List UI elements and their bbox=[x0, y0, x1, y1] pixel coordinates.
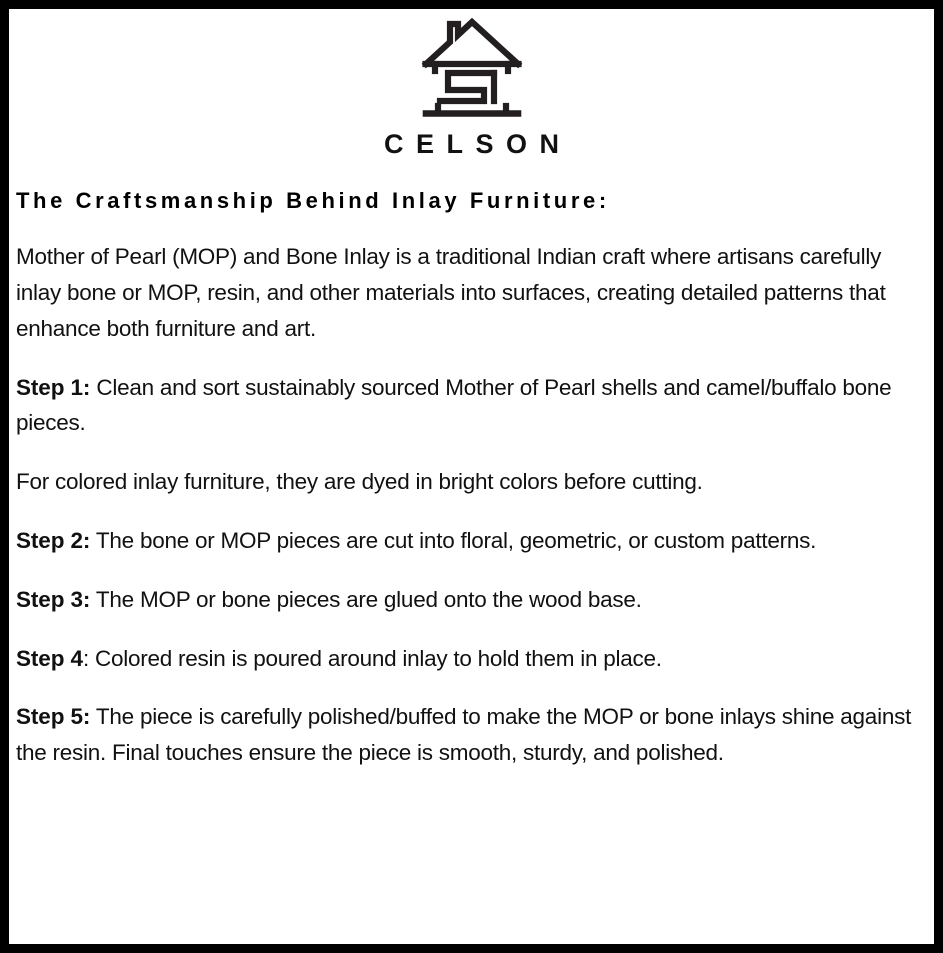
step-4-label: Step 4 bbox=[16, 646, 83, 671]
step-2-label: Step 2: bbox=[16, 528, 90, 553]
paragraph-step-4: Step 4: Colored resin is poured around i… bbox=[16, 641, 922, 677]
step-5-text: The piece is carefully polished/buffed t… bbox=[16, 704, 911, 765]
paragraph-step-3: Step 3: The MOP or bone pieces are glued… bbox=[16, 582, 922, 618]
step-3-label: Step 3: bbox=[16, 587, 90, 612]
poster-content: CELSON The Craftsmanship Behind Inlay Fu… bbox=[9, 9, 934, 944]
step-5-label: Step 5: bbox=[16, 704, 90, 729]
paragraph-step-1: Step 1: Clean and sort sustainably sourc… bbox=[16, 370, 922, 442]
step-1-text: Clean and sort sustainably sourced Mothe… bbox=[16, 375, 891, 436]
page-title: The Craftsmanship Behind Inlay Furniture… bbox=[16, 189, 934, 213]
paragraph-intro: Mother of Pearl (MOP) and Bone Inlay is … bbox=[16, 239, 922, 346]
paragraph-note: For colored inlay furniture, they are dy… bbox=[16, 464, 922, 500]
house-monogram-logo-icon bbox=[418, 14, 526, 120]
poster-frame: CELSON The Craftsmanship Behind Inlay Fu… bbox=[0, 0, 943, 953]
paragraph-step-5: Step 5: The piece is carefully polished/… bbox=[16, 699, 922, 771]
brand-header: CELSON bbox=[9, 9, 934, 158]
step-4-text: : Colored resin is poured around inlay t… bbox=[83, 646, 662, 671]
article-body: Mother of Pearl (MOP) and Bone Inlay is … bbox=[9, 239, 934, 771]
step-3-text: The MOP or bone pieces are glued onto th… bbox=[90, 587, 641, 612]
paragraph-step-2: Step 2: The bone or MOP pieces are cut i… bbox=[16, 523, 922, 559]
brand-wordmark: CELSON bbox=[371, 131, 571, 158]
step-2-text: The bone or MOP pieces are cut into flor… bbox=[90, 528, 816, 553]
step-1-label: Step 1: bbox=[16, 375, 90, 400]
